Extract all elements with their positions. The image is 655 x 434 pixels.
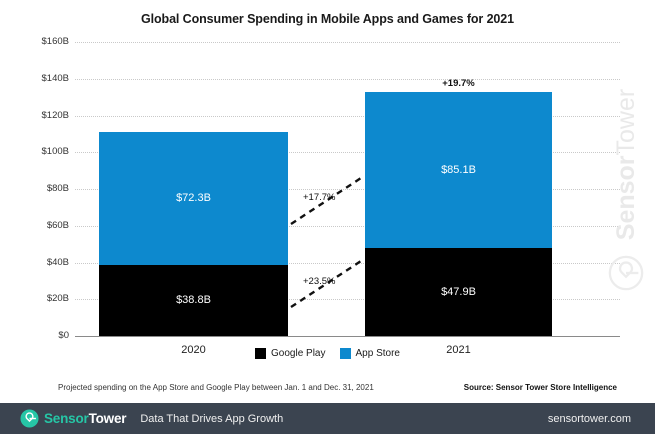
footnote-text: Projected spending on the App Store and … [58, 383, 374, 392]
bar-segment-app-store-2020[interactable]: $72.3B [99, 132, 288, 265]
bar-2020[interactable]: $38.8B $72.3B [99, 132, 288, 336]
y-tick-label-20: $20B [9, 293, 69, 304]
page-title: Global Consumer Spending in Mobile Apps … [0, 12, 655, 26]
y-tick-label-80: $80B [9, 183, 69, 194]
y-tick-label-100: $100B [9, 146, 69, 157]
bar-segment-app-store-2021[interactable]: $85.1B [365, 92, 552, 248]
y-tick-label-140: $140B [9, 73, 69, 84]
x-axis-baseline [75, 336, 620, 337]
legend-item-google-play[interactable]: Google Play [255, 348, 325, 359]
legend-item-app-store[interactable]: App Store [340, 348, 400, 359]
y-tick-label-60: $60B [9, 220, 69, 231]
brand-tagline: Data That Drives App Growth [140, 413, 283, 425]
infographic-root: Global Consumer Spending in Mobile Apps … [0, 0, 655, 434]
sensor-tower-logo-icon [20, 409, 39, 428]
legend-swatch-app-store [340, 348, 351, 359]
y-tick-label-40: $40B [9, 257, 69, 268]
brand-name-sensor: Sensor [44, 411, 89, 426]
annotation-app-store-growth: +17.7% [303, 192, 336, 203]
chart-plot-area: $160B $140B $120B $100B $80B $60B $40B $… [75, 42, 620, 336]
chart-legend: Google Play App Store [0, 348, 655, 359]
gridline-160 [75, 42, 620, 43]
y-tick-label-120: $120B [9, 110, 69, 121]
bar-value-label-google-play-2020: $38.8B [99, 294, 288, 306]
bar-value-label-app-store-2021: $85.1B [365, 164, 552, 176]
legend-label-google-play: Google Play [271, 348, 325, 359]
legend-swatch-google-play [255, 348, 266, 359]
brand-name: SensorTower [44, 411, 126, 426]
bar-value-label-google-play-2021: $47.9B [365, 286, 552, 298]
annotation-google-play-growth: +23.5% [303, 276, 336, 287]
source-text: Source: Sensor Tower Store Intelligence [464, 383, 617, 392]
y-tick-label-0: $0 [9, 330, 69, 341]
bar-segment-google-play-2020[interactable]: $38.8B [99, 265, 288, 336]
brand-url[interactable]: sensortower.com [548, 413, 631, 425]
legend-label-app-store: App Store [356, 348, 400, 359]
bar-segment-google-play-2021[interactable]: $47.9B [365, 248, 552, 336]
bar-value-label-app-store-2020: $72.3B [99, 192, 288, 204]
y-tick-label-160: $160B [9, 36, 69, 47]
annotation-total-growth-2021: +19.7% [365, 78, 552, 89]
bar-2021[interactable]: +19.7% $47.9B $85.1B [365, 92, 552, 336]
brand-name-tower: Tower [89, 411, 127, 426]
brand-bar: SensorTower Data That Drives App Growth … [0, 403, 655, 434]
